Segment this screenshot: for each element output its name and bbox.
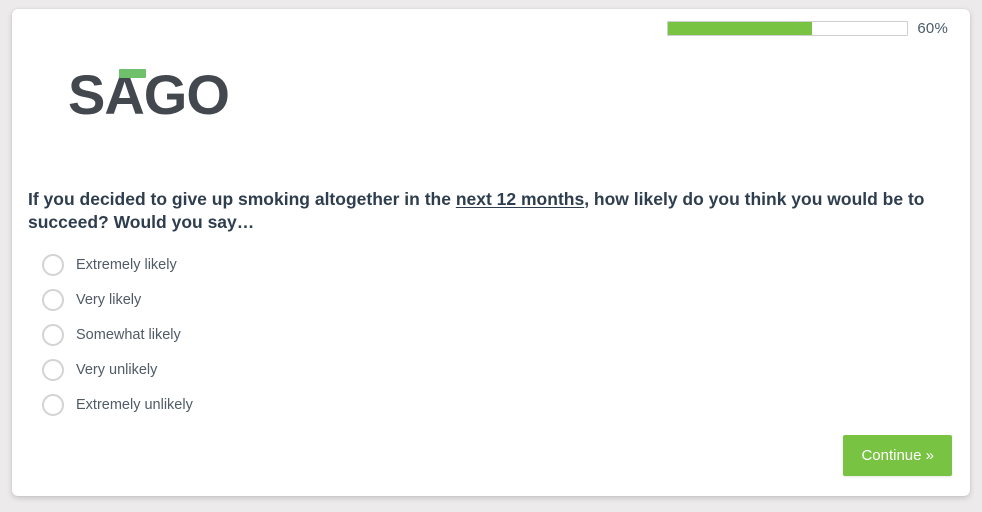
radio-option-label: Very unlikely	[76, 362, 157, 378]
question-text-emphasis: next 12 months	[456, 189, 584, 209]
radio-button-icon[interactable]	[42, 324, 64, 346]
answer-options-list: Extremely likelyVery likelySomewhat like…	[28, 247, 528, 422]
progress-indicator: 60%	[667, 20, 948, 37]
radio-button-icon[interactable]	[42, 394, 64, 416]
radio-button-icon[interactable]	[42, 359, 64, 381]
question-text: If you decided to give up smoking altoge…	[28, 188, 958, 235]
continue-button[interactable]: Continue »	[843, 435, 952, 476]
radio-button-icon[interactable]	[42, 289, 64, 311]
radio-option-label: Extremely likely	[76, 257, 177, 273]
logo-wordmark-text: SAGO	[68, 61, 228, 129]
progress-percent-label: 60%	[917, 20, 948, 37]
radio-option-label: Very likely	[76, 292, 141, 308]
radio-option-row[interactable]: Very likely	[28, 282, 528, 317]
question-text-part-1: If you decided to give up smoking altoge…	[28, 189, 456, 209]
radio-option-label: Somewhat likely	[76, 327, 181, 343]
radio-option-row[interactable]: Extremely unlikely	[28, 387, 528, 422]
survey-card: 60% SAGO If you decided to give up smoki…	[12, 9, 970, 496]
radio-option-row[interactable]: Very unlikely	[28, 352, 528, 387]
radio-option-label: Extremely unlikely	[76, 397, 193, 413]
radio-button-icon[interactable]	[42, 254, 64, 276]
radio-option-row[interactable]: Extremely likely	[28, 247, 528, 282]
radio-option-row[interactable]: Somewhat likely	[28, 317, 528, 352]
progress-bar-track	[667, 21, 908, 36]
progress-bar-fill	[668, 22, 811, 35]
sago-logo: SAGO	[68, 61, 228, 129]
logo-macron-accent-icon	[119, 69, 146, 78]
